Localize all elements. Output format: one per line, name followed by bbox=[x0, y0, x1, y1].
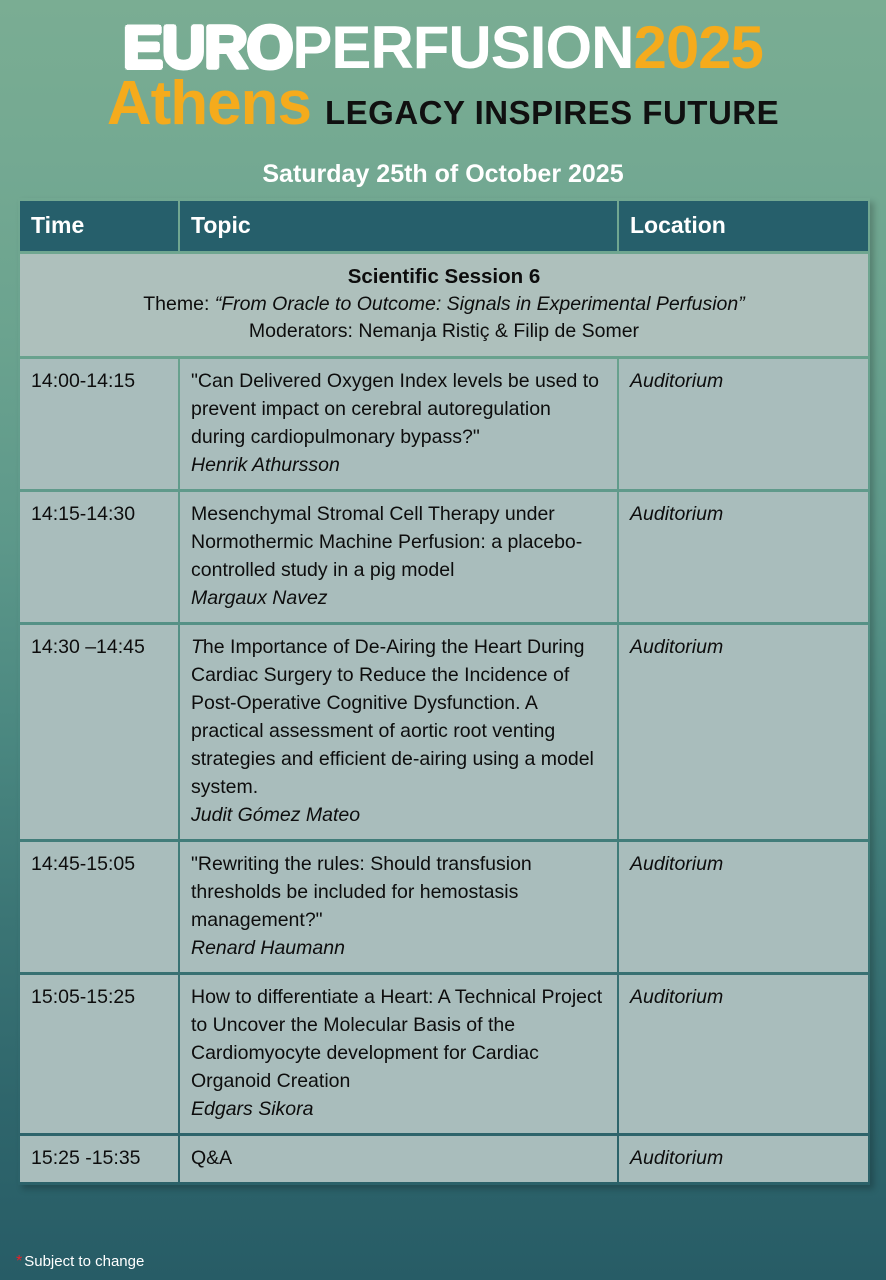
row-topic-title: Q&A bbox=[191, 1144, 606, 1172]
session-band-row: Scientific Session 6 Theme: “From Oracle… bbox=[20, 254, 868, 356]
session-theme: Theme: “From Oracle to Outcome: Signals … bbox=[30, 291, 858, 318]
row-topic-rest: he Importance of De-Airing the Heart Dur… bbox=[191, 636, 594, 798]
session-title: Scientific Session 6 bbox=[30, 263, 858, 291]
row-location: Auditorium bbox=[619, 359, 868, 489]
footnote-text: Subject to change bbox=[24, 1253, 144, 1270]
session-theme-text: “From Oracle to Outcome: Signals in Expe… bbox=[215, 293, 745, 315]
table-header-row: Time Topic Location bbox=[20, 201, 868, 251]
row-time: 14:00-14:15 bbox=[20, 359, 178, 489]
row-topic-title: How to differentiate a Heart: A Technica… bbox=[191, 983, 606, 1095]
row-speaker: Renard Haumann bbox=[191, 934, 606, 962]
row-time: 15:05-15:25 bbox=[20, 975, 178, 1133]
row-topic: Mesenchymal Stromal Cell Therapy under N… bbox=[180, 492, 617, 622]
column-header-time: Time bbox=[20, 201, 178, 251]
row-topic-lead-char: T bbox=[191, 636, 203, 658]
session-theme-prefix: Theme: bbox=[143, 293, 215, 315]
row-time: 15:25 -15:35 bbox=[20, 1136, 178, 1182]
row-time: 14:15-14:30 bbox=[20, 492, 178, 622]
event-subtitle-line: AthensLEGACY INSPIRES FUTURE bbox=[0, 74, 886, 150]
row-speaker: Judit Gómez Mateo bbox=[191, 801, 606, 829]
row-topic: Q&A bbox=[180, 1136, 617, 1182]
row-location: Auditorium bbox=[619, 1136, 868, 1182]
row-topic: How to differentiate a Heart: A Technica… bbox=[180, 975, 617, 1133]
row-time: 14:45-15:05 bbox=[20, 842, 178, 972]
row-topic: "Can Delivered Oxygen Index levels be us… bbox=[180, 359, 617, 489]
row-topic: "Rewriting the rules: Should transfusion… bbox=[180, 842, 617, 972]
logo-city-text: Athens bbox=[107, 69, 311, 138]
row-location: Auditorium bbox=[619, 975, 868, 1133]
logo-tagline-text: LEGACY INSPIRES FUTURE bbox=[325, 94, 779, 131]
table-row: 14:00-14:15 "Can Delivered Oxygen Index … bbox=[20, 359, 868, 489]
row-topic-title: The Importance of De-Airing the Heart Du… bbox=[191, 633, 606, 801]
row-speaker: Edgars Sikora bbox=[191, 1095, 606, 1123]
row-location: Auditorium bbox=[619, 842, 868, 972]
event-date: Saturday 25th of October 2025 bbox=[0, 160, 886, 189]
event-header: EUROPERFUSION2025 AthensLEGACY INSPIRES … bbox=[0, 0, 886, 189]
column-header-topic: Topic bbox=[180, 201, 617, 251]
table-row: 15:25 -15:35 Q&A Auditorium bbox=[20, 1136, 868, 1182]
logo-year-text: 2025 bbox=[633, 14, 762, 81]
footnote: *Subject to change bbox=[16, 1252, 144, 1272]
row-topic-title: Mesenchymal Stromal Cell Therapy under N… bbox=[191, 500, 606, 584]
schedule-table-head: Time Topic Location bbox=[20, 201, 868, 251]
row-time: 14:30 –14:45 bbox=[20, 625, 178, 839]
table-row: 14:30 –14:45 The Importance of De-Airing… bbox=[20, 625, 868, 839]
table-row: 15:05-15:25 How to differentiate a Heart… bbox=[20, 975, 868, 1133]
table-row: 14:45-15:05 "Rewriting the rules: Should… bbox=[20, 842, 868, 972]
row-location: Auditorium bbox=[619, 625, 868, 839]
row-topic-title: "Rewriting the rules: Should transfusion… bbox=[191, 850, 606, 934]
asterisk-icon: * bbox=[16, 1253, 22, 1270]
row-speaker: Henrik Athursson bbox=[191, 451, 606, 479]
session-band-cell: Scientific Session 6 Theme: “From Oracle… bbox=[20, 254, 868, 356]
row-location: Auditorium bbox=[619, 492, 868, 622]
row-topic: The Importance of De-Airing the Heart Du… bbox=[180, 625, 617, 839]
programme-page: { "header": { "logo": { "part_outline": … bbox=[0, 0, 886, 1280]
schedule-table: Time Topic Location Scientific Session 6… bbox=[18, 198, 870, 1185]
logo-perfusion-text: PERFUSION bbox=[292, 14, 633, 81]
session-moderators: Moderators: Nemanja Ristiç & Filip de So… bbox=[30, 318, 858, 345]
row-speaker: Margaux Navez bbox=[191, 584, 606, 612]
schedule-table-body: Scientific Session 6 Theme: “From Oracle… bbox=[20, 254, 868, 1182]
schedule-container: Time Topic Location Scientific Session 6… bbox=[18, 198, 866, 1185]
row-topic-title: "Can Delivered Oxygen Index levels be us… bbox=[191, 367, 606, 451]
table-row: 14:15-14:30 Mesenchymal Stromal Cell The… bbox=[20, 492, 868, 622]
column-header-location: Location bbox=[619, 201, 868, 251]
